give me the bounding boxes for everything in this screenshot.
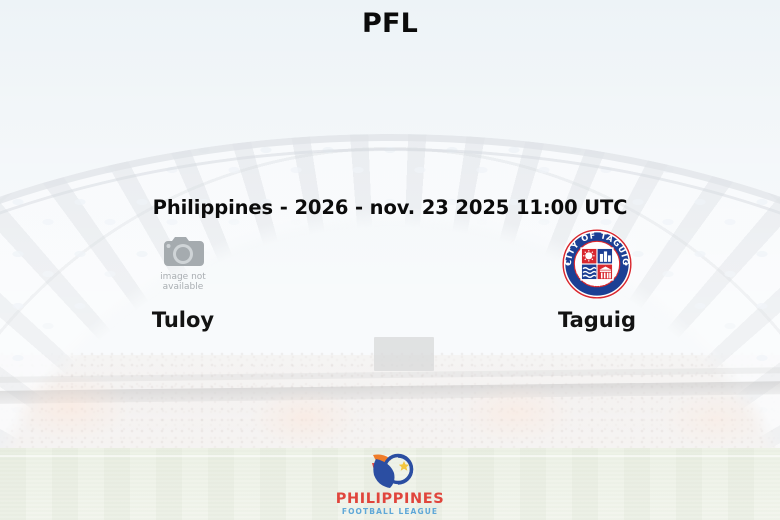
- home-team-name: Tuloy: [152, 308, 214, 332]
- league-logo-line-1: PHILIPPINES: [330, 492, 450, 507]
- home-team[interactable]: image not available Tuloy: [61, 228, 305, 332]
- broken-image-alt-text: image not available: [160, 272, 206, 292]
- home-team-crest: image not available: [147, 228, 219, 300]
- league-logo-line-2: FOOTBALL LEAGUE: [330, 507, 450, 516]
- alt-text-line-1: image not: [160, 272, 206, 282]
- city-of-taguig-seal-icon: CITY OF TAGUIG PHILIPPINES: [561, 228, 633, 300]
- pfl-ball-icon: [364, 449, 416, 491]
- alt-text-line-2: available: [163, 282, 204, 292]
- page-title: PFL: [0, 8, 780, 39]
- away-team-crest: CITY OF TAGUIG PHILIPPINES: [561, 228, 633, 300]
- card-content: PFL Philippines - 2026 - nov. 23 2025 11…: [0, 0, 780, 520]
- match-preview-card: PFL Philippines - 2026 - nov. 23 2025 11…: [0, 0, 780, 520]
- teams-row: image not available Tuloy: [0, 228, 780, 332]
- away-team[interactable]: CITY OF TAGUIG PHILIPPINES: [475, 228, 719, 332]
- away-team-name: Taguig: [558, 308, 636, 332]
- broken-image-placeholder: image not available: [149, 231, 217, 297]
- league-logo: PHILIPPINES FOOTBALL LEAGUE: [330, 449, 450, 516]
- camera-icon: [160, 233, 206, 269]
- match-meta-line: Philippines - 2026 - nov. 23 2025 11:00 …: [0, 196, 780, 219]
